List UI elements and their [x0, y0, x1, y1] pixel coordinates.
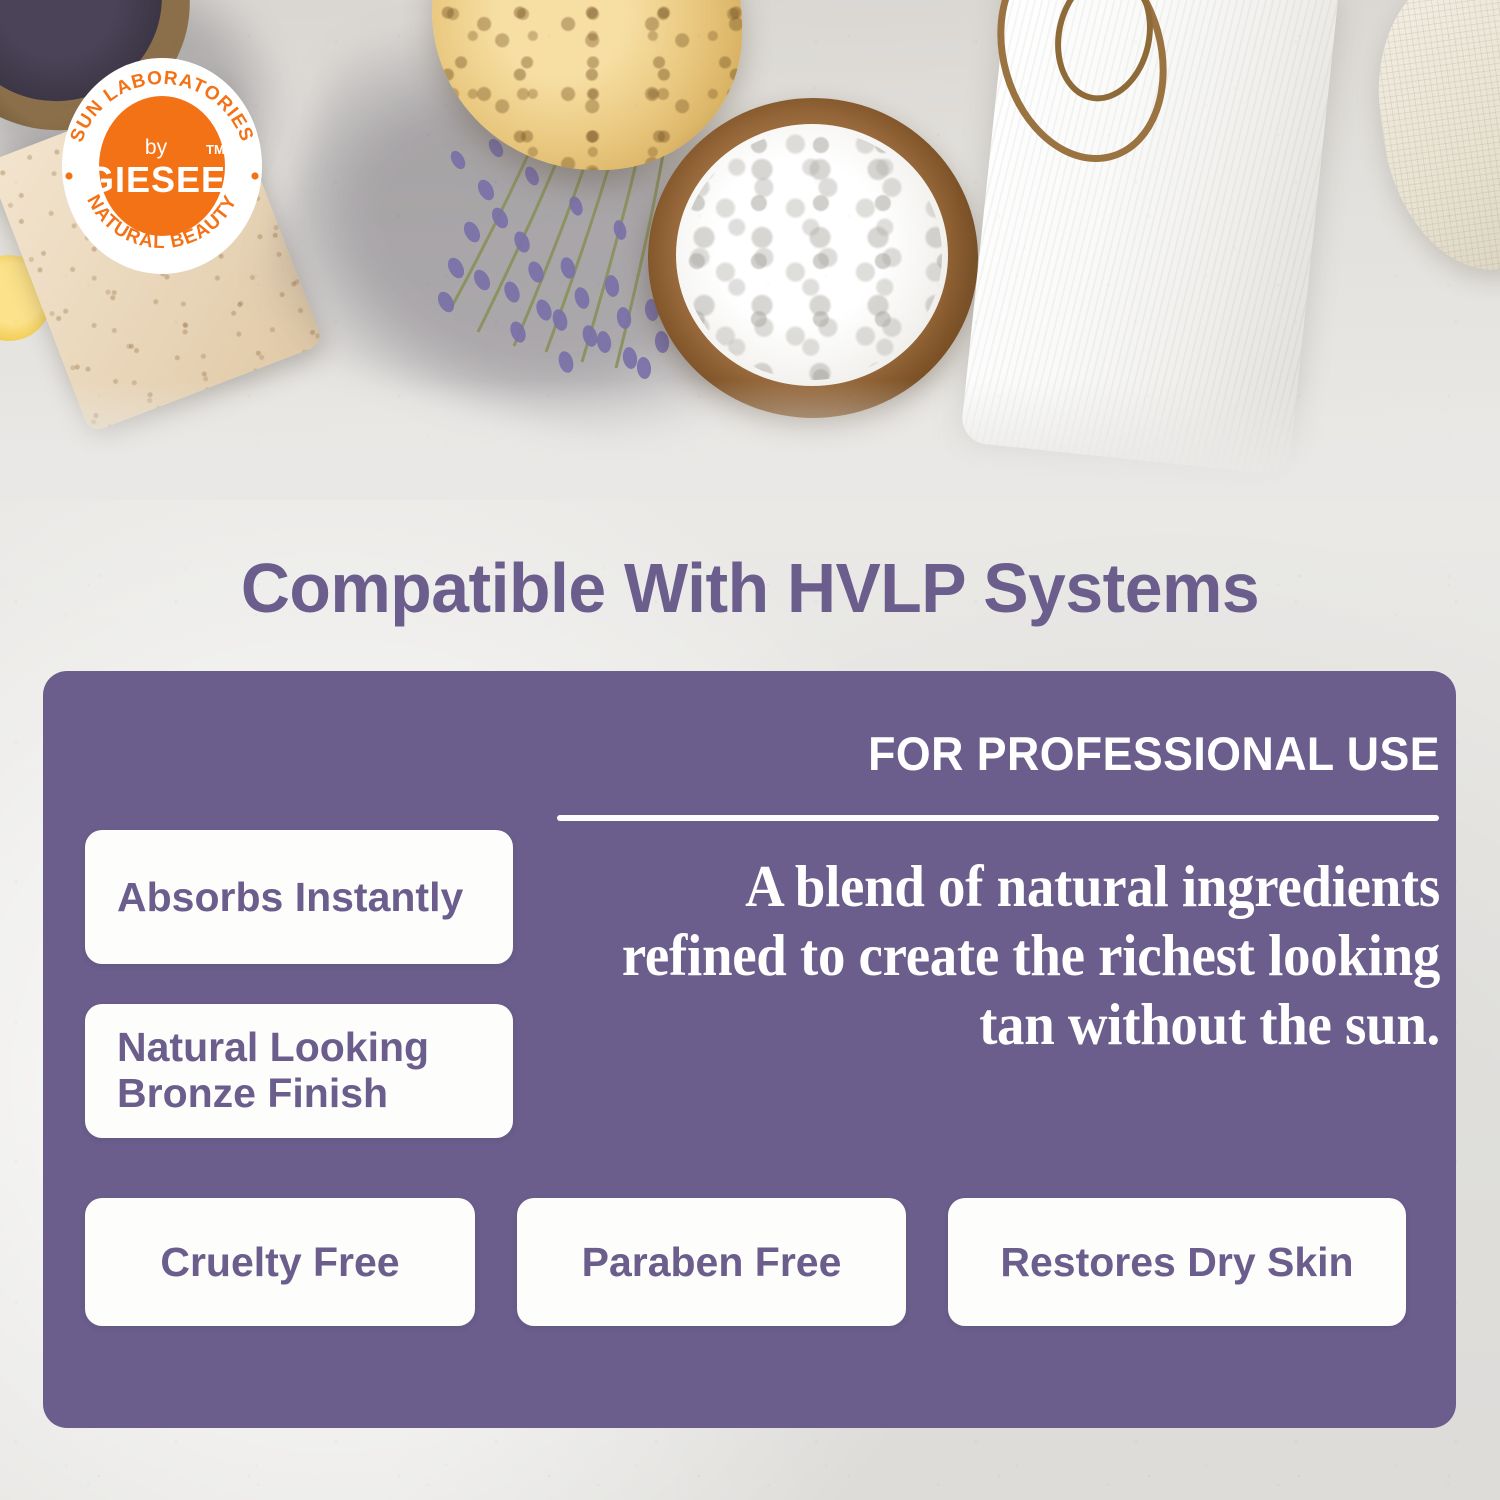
feature-card-natural-looking-bronze-finish[interactable]: Natural Looking Bronze Finish: [85, 1004, 513, 1138]
page-title: Compatible With HVLP Systems: [23, 548, 1478, 628]
feature-card-label: Cruelty Free: [160, 1239, 399, 1286]
panel-divider: [557, 815, 1439, 821]
logo-by-text: by: [145, 136, 168, 159]
feature-card-label: Absorbs Instantly: [117, 874, 463, 921]
brand-logo-badge: SUN LABORATORIES NATURAL BEAUTY by GIESE…: [56, 48, 268, 280]
feature-card-absorbs-instantly[interactable]: Absorbs Instantly: [85, 830, 513, 964]
sea-salt-crystals: [676, 124, 948, 386]
feature-card-restores-dry-skin[interactable]: Restores Dry Skin: [948, 1198, 1406, 1326]
feature-card-paraben-free[interactable]: Paraben Free: [517, 1198, 906, 1326]
linen-compress-ball: [1362, 0, 1500, 283]
logo-dot-left: [65, 172, 72, 179]
feature-card-label: Natural Looking Bronze Finish: [117, 1025, 513, 1117]
professional-use-heading: FOR PROFESSIONAL USE: [737, 726, 1440, 781]
logo-dot-right: [251, 172, 258, 179]
feature-card-label: Paraben Free: [582, 1239, 842, 1286]
logo-trademark-text: TM: [206, 142, 225, 157]
feature-card-cruelty-free[interactable]: Cruelty Free: [85, 1198, 475, 1326]
product-description: A blend of natural ingredients refined t…: [622, 852, 1440, 1059]
product-infographic: SUN LABORATORIES NATURAL BEAUTY by GIESE…: [0, 0, 1500, 1500]
photo-bottom-fade: [0, 380, 1500, 500]
feature-card-label: Restores Dry Skin: [1000, 1239, 1353, 1286]
logo-giesee-text: GIESEE: [86, 159, 226, 200]
